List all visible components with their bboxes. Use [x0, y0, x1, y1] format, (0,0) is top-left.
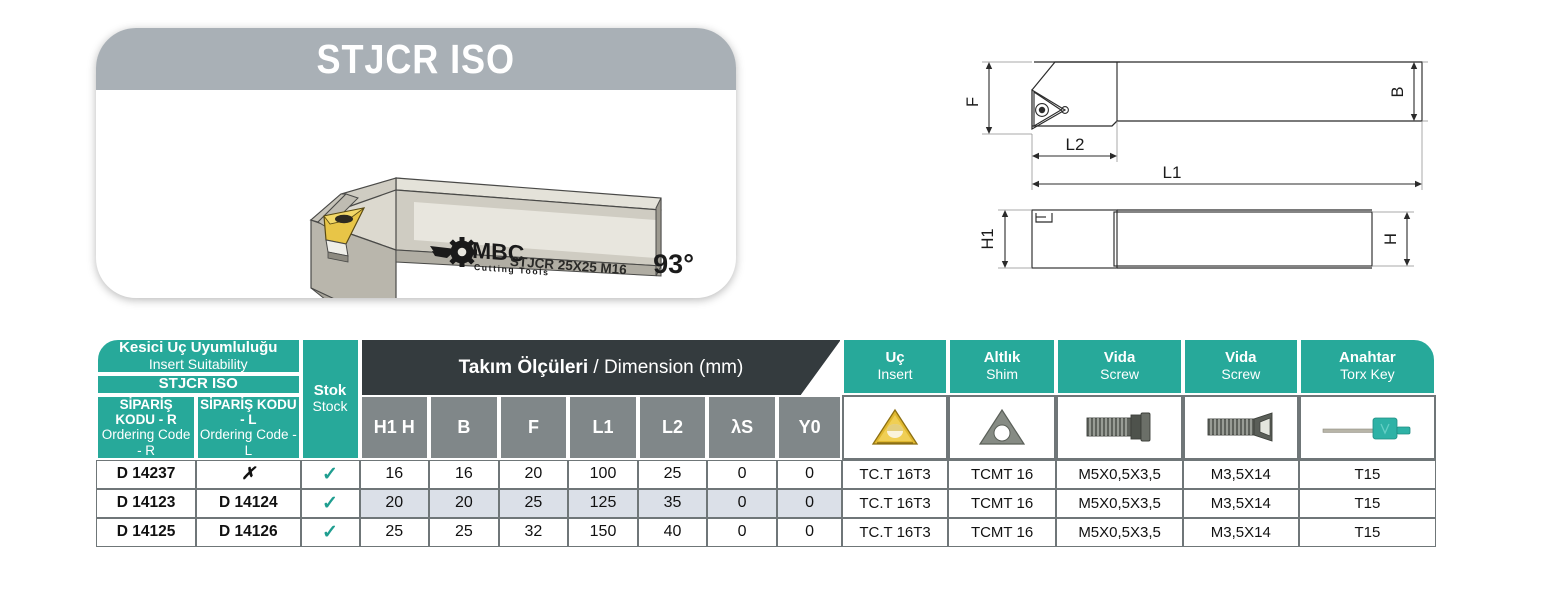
- cell-l2: 35: [638, 489, 708, 518]
- cell-l2: 40: [638, 518, 708, 547]
- table-row: D 14237 ✗ ✓ 16 16 20 100 25 0 0 TC.T 16T…: [96, 460, 1436, 489]
- technical-drawing-side-view: H1 H: [962, 196, 1432, 302]
- stock-en: Stock: [303, 399, 358, 415]
- header-dim-ls: λS: [707, 395, 777, 459]
- cell-b: 20: [429, 489, 499, 518]
- cell-ordering-code-l[interactable]: D 14124: [196, 489, 300, 518]
- cell-ordering-code-l[interactable]: ✗: [196, 460, 300, 489]
- insert-suitability-tr: Kesici Uç Uyumluluğu: [98, 340, 299, 357]
- cell-ordering-code-r[interactable]: D 14123: [96, 489, 196, 518]
- series-label: STJCR ISO: [98, 376, 299, 393]
- header-insert-suitability: Kesici Uç Uyumluluğu Insert Suitability: [96, 338, 301, 374]
- torx-key-icon: [1315, 410, 1419, 444]
- dimension-en: Dimension (mm): [604, 357, 743, 378]
- check-mark-icon: ✓: [322, 493, 338, 514]
- ordering-code-l-tr: SİPARİŞ KODU - L: [198, 397, 298, 427]
- icon-cell-torx-key: [1299, 395, 1436, 459]
- dim-H: [1404, 212, 1410, 266]
- screw1-tr: Vida: [1058, 350, 1181, 367]
- ordering-code-l-en: Ordering Code - L: [198, 427, 298, 457]
- header-insert: Uç Insert: [842, 338, 947, 395]
- cell-screw-2: M3,5X14: [1183, 460, 1299, 489]
- insert-en: Insert: [844, 367, 945, 383]
- insert-suitability-en: Insert Suitability: [98, 357, 299, 373]
- cell-screw-2: M3,5X14: [1183, 489, 1299, 518]
- header-dim-y0: Y0: [777, 395, 842, 459]
- cell-y0: 0: [777, 489, 842, 518]
- screw2-tr: Vida: [1185, 350, 1297, 367]
- dark-band-wedge: [801, 340, 841, 395]
- dim-label-H1: H1: [979, 228, 997, 249]
- icon-cell-screw-1: [1056, 395, 1183, 459]
- dim-label-H: H: [1382, 233, 1400, 245]
- dim-L1: [1032, 181, 1422, 187]
- header-screw-1: Vida Screw: [1056, 338, 1183, 395]
- cell-l1: 150: [568, 518, 638, 547]
- product-card: STJCR ISO: [96, 28, 736, 298]
- technical-drawing-top-view: F B L2 L1: [962, 22, 1432, 200]
- table-header-row-1: Kesici Uç Uyumluluğu Insert Suitability …: [96, 338, 1436, 374]
- cell-torx: T15: [1299, 489, 1436, 518]
- table-header-row-3: SİPARİŞ KODU - R Ordering Code - R SİPAR…: [96, 395, 1436, 459]
- cell-h1h: 20: [360, 489, 430, 518]
- torx-en: Torx Key: [1301, 367, 1434, 383]
- cell-h1h: 25: [360, 518, 430, 547]
- cell-torx: T15: [1299, 460, 1436, 489]
- cell-shim: TCMT 16: [948, 489, 1057, 518]
- dimension-tr: Takım Ölçüleri: [459, 357, 589, 378]
- header-ordering-code-r: SİPARİŞ KODU - R Ordering Code - R: [96, 395, 196, 459]
- cell-f: 25: [499, 489, 569, 518]
- cell-y0: 0: [777, 460, 842, 489]
- header-stock: Stok Stock: [301, 338, 360, 460]
- dimension-sep: /: [588, 357, 604, 378]
- header-dim-h1h: H1 H: [360, 395, 430, 459]
- cell-l2: 25: [638, 460, 708, 489]
- cell-shim: TCMT 16: [948, 518, 1057, 547]
- table-row: D 14123 D 14124 ✓ 20 20 25 125 35 0 0 TC…: [96, 489, 1436, 518]
- insert-screw-detail: [1036, 104, 1069, 117]
- cell-ls: 0: [707, 518, 777, 547]
- cell-screw-1: M5X0,5X3,5: [1056, 460, 1183, 489]
- cell-screw-1: M5X0,5X3,5: [1056, 518, 1183, 547]
- stock-tr: Stok: [303, 383, 358, 400]
- check-mark-icon: ✓: [322, 522, 338, 543]
- cell-ls: 0: [707, 460, 777, 489]
- header-ordering-code-l: SİPARİŞ KODU - L Ordering Code - L: [196, 395, 300, 459]
- header-series: STJCR ISO: [96, 374, 301, 395]
- dim-label-L2: L2: [1066, 135, 1085, 154]
- screw1-en: Screw: [1058, 367, 1181, 383]
- cell-insert: TC.T 16T3: [842, 460, 947, 489]
- cell-b: 16: [429, 460, 499, 489]
- cylindrical-head-screw-icon: [1081, 410, 1159, 444]
- dim-H1: [1002, 210, 1008, 268]
- cross-mark-icon: ✗: [241, 464, 255, 483]
- dim-label-L1: L1: [1163, 163, 1182, 182]
- cell-stock[interactable]: ✓: [301, 460, 360, 489]
- cell-shim: TCMT 16: [948, 460, 1057, 489]
- cell-l1: 100: [568, 460, 638, 489]
- product-title-band: STJCR ISO: [96, 28, 736, 90]
- cell-ordering-code-r[interactable]: D 14125: [96, 518, 196, 547]
- shim-en: Shim: [950, 367, 1055, 383]
- page-title: STJCR ISO: [317, 36, 515, 83]
- cell-h1h: 16: [360, 460, 430, 489]
- cell-f: 32: [499, 518, 569, 547]
- header-dim-l2: L2: [638, 395, 708, 459]
- tool-illustration: MBC Cutting Tools STJCR 25X25 M16: [96, 90, 736, 298]
- shim-tr: Altlık: [950, 350, 1055, 367]
- header-dim-f: F: [499, 395, 569, 459]
- cell-insert: TC.T 16T3: [842, 489, 947, 518]
- check-mark-icon: ✓: [322, 464, 338, 485]
- header-dimension: Takım Ölçüleri / Dimension (mm): [360, 338, 843, 395]
- icon-cell-shim: [948, 395, 1057, 459]
- cell-insert: TC.T 16T3: [842, 518, 947, 547]
- cell-screw-1: M5X0,5X3,5: [1056, 489, 1183, 518]
- header-torx-key: Anahtar Torx Key: [1299, 338, 1436, 395]
- triangular-shim-icon: [977, 406, 1027, 448]
- ordering-code-r-en: Ordering Code - R: [98, 427, 194, 457]
- torx-tr: Anahtar: [1301, 350, 1434, 367]
- dim-B: [1411, 62, 1417, 121]
- header-dim-b: B: [429, 395, 499, 459]
- header-screw-2: Vida Screw: [1183, 338, 1299, 395]
- icon-cell-screw-2: [1183, 395, 1299, 459]
- header-shim: Altlık Shim: [948, 338, 1057, 395]
- specification-table: Kesici Uç Uyumluluğu Insert Suitability …: [96, 338, 1436, 547]
- cell-screw-2: M3,5X14: [1183, 518, 1299, 547]
- cell-b: 25: [429, 518, 499, 547]
- header-dim-l1: L1: [568, 395, 638, 459]
- icon-cell-insert: [842, 395, 947, 459]
- cell-ordering-code-l[interactable]: D 14126: [196, 518, 300, 547]
- cell-ordering-code-r[interactable]: D 14237: [96, 460, 196, 489]
- dim-label-B: B: [1389, 86, 1407, 97]
- cell-ls: 0: [707, 489, 777, 518]
- ordering-code-r-tr: SİPARİŞ KODU - R: [98, 397, 194, 427]
- insert-tr: Uç: [844, 350, 945, 367]
- triangular-insert-icon: [870, 406, 920, 448]
- cell-torx: T15: [1299, 518, 1436, 547]
- dim-label-F: F: [964, 97, 982, 107]
- cell-l1: 125: [568, 489, 638, 518]
- cell-f: 20: [499, 460, 569, 489]
- countersunk-screw-icon: [1202, 410, 1280, 444]
- cell-stock[interactable]: ✓: [301, 518, 360, 547]
- cell-stock[interactable]: ✓: [301, 489, 360, 518]
- angle-label: 93°: [653, 249, 694, 280]
- screw2-en: Screw: [1185, 367, 1297, 383]
- table-row: D 14125 D 14126 ✓ 25 25 32 150 40 0 0 TC…: [96, 518, 1436, 547]
- cell-y0: 0: [777, 518, 842, 547]
- dim-F: [986, 62, 992, 134]
